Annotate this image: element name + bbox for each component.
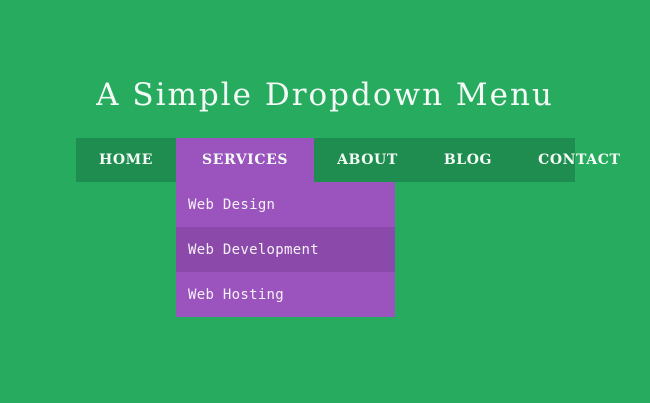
menu-link-blog[interactable]: BLOG [421,138,515,182]
dropdown-menu-services: Web Design Web Development Web Hosting [176,182,395,317]
navigation-bar: HOME SERVICES Web Design Web Development… [76,138,575,182]
dropdown-item-web-hosting[interactable]: Web Hosting [176,272,395,317]
menu-list: HOME SERVICES Web Design Web Development… [76,138,575,182]
menu-link-services[interactable]: SERVICES [176,138,314,182]
dropdown-item-web-design[interactable]: Web Design [176,182,395,227]
dropdown-link-web-hosting[interactable]: Web Hosting [176,272,395,317]
menu-item-blog[interactable]: BLOG [421,138,515,182]
dropdown-item-web-development[interactable]: Web Development [176,227,395,272]
menu-link-contact[interactable]: CONTACT [515,138,643,182]
menu-item-about[interactable]: ABOUT [314,138,421,182]
menu-item-services[interactable]: SERVICES Web Design Web Development Web … [176,138,314,182]
page-title: A Simple Dropdown Menu [0,76,650,114]
menu-link-about[interactable]: ABOUT [314,138,421,182]
menu-link-home[interactable]: HOME [76,138,176,182]
menu-item-contact[interactable]: CONTACT [515,138,643,182]
dropdown-link-web-development[interactable]: Web Development [176,227,395,272]
menu-item-home[interactable]: HOME [76,138,176,182]
dropdown-link-web-design[interactable]: Web Design [176,182,395,227]
